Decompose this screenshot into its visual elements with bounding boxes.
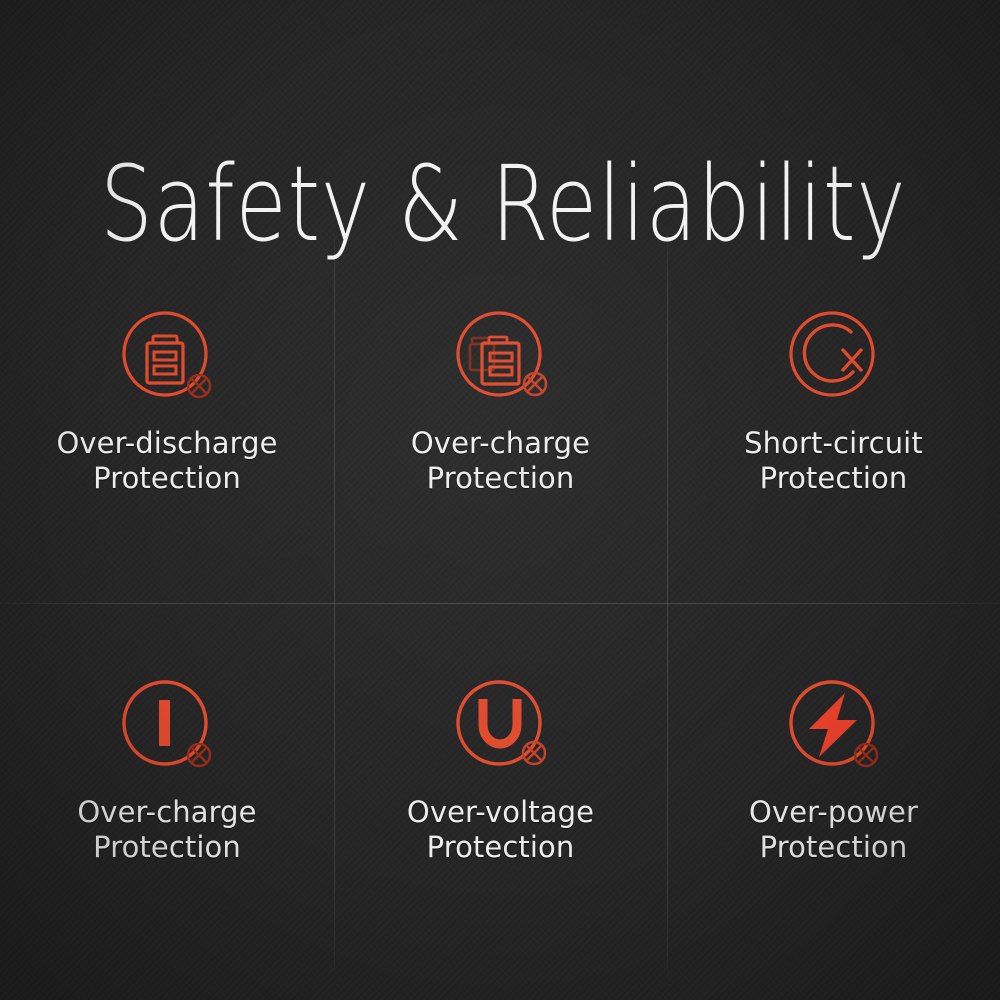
feature-caption: Over-charge Protection xyxy=(77,795,256,865)
lightning-bolt-icon xyxy=(782,673,886,777)
battery-over-charge-icon xyxy=(449,304,553,408)
battery-over-discharge-icon xyxy=(115,304,219,408)
feature-caption: Over-discharge Protection xyxy=(56,426,277,496)
feature-cell-over-power: Over-power Protection xyxy=(667,603,1000,980)
feature-caption: Short-circuit Protection xyxy=(744,426,923,496)
current-i-icon xyxy=(115,673,219,777)
voltage-u-icon xyxy=(449,673,553,777)
feature-caption: Over-charge Protection xyxy=(411,426,590,496)
short-circuit-icon xyxy=(782,304,886,408)
feature-cell-over-discharge: Over-discharge Protection xyxy=(0,232,334,603)
feature-cell-over-charge-battery: Over-charge Protection xyxy=(334,232,667,603)
feature-cell-short-circuit: Short-circuit Protection xyxy=(667,232,1000,603)
feature-grid: Over-discharge Protection xyxy=(0,232,1000,980)
safety-reliability-poster: Safety & Reliability Over-discharge Prot… xyxy=(0,0,1000,1000)
feature-cell-over-voltage: Over-voltage Protection xyxy=(334,603,667,980)
feature-cell-over-charge-current: Over-charge Protection xyxy=(0,603,334,980)
feature-caption: Over-voltage Protection xyxy=(407,795,594,865)
feature-caption: Over-power Protection xyxy=(749,795,918,865)
